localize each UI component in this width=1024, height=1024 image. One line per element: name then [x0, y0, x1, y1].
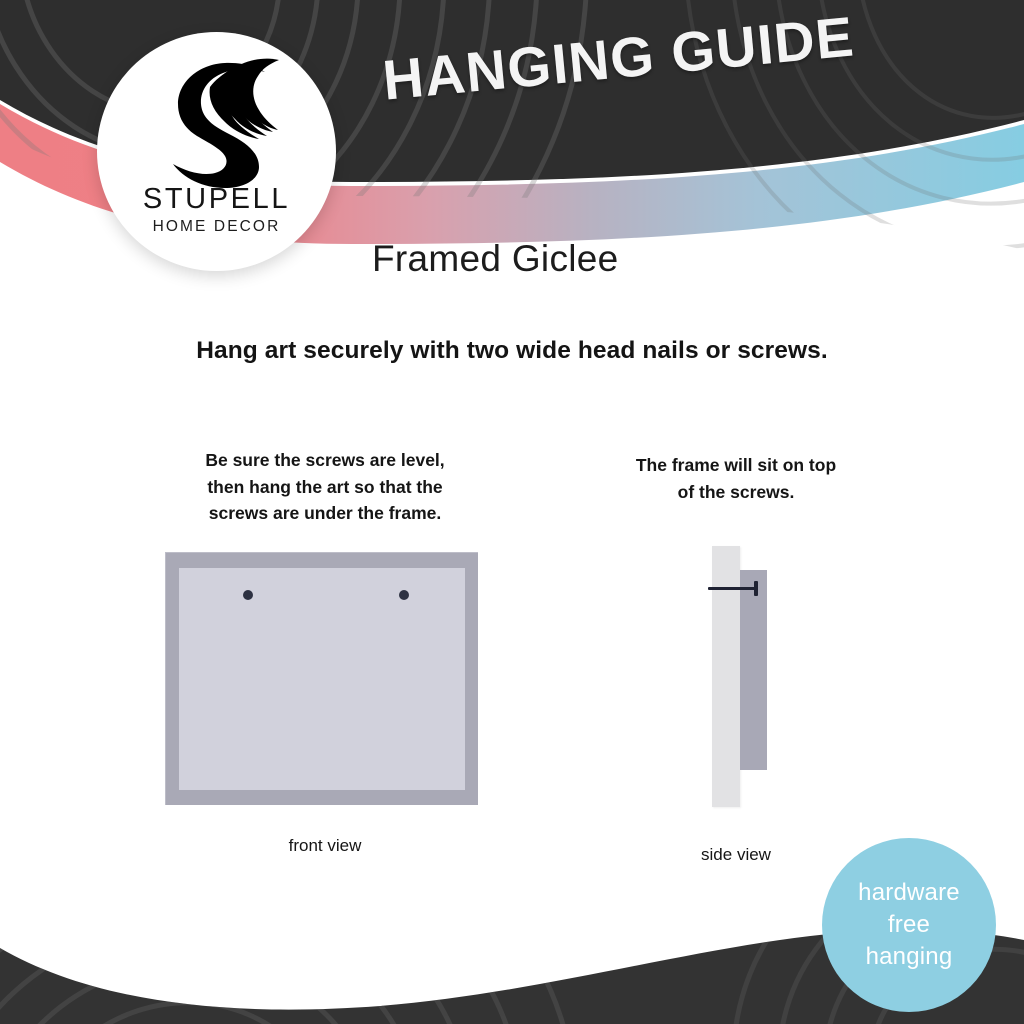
front-view-diagram [165, 552, 478, 805]
hardware-free-hanging-badge: hardware free hanging [822, 838, 996, 1012]
front-view-mat [179, 568, 465, 790]
side-view-instruction-line-2: of the screws. [600, 479, 872, 506]
hanging-guide-page: STUPELL HOME DECOR HANGING GUIDE Framed … [0, 0, 1024, 1024]
brand-logo-badge: STUPELL HOME DECOR [97, 32, 336, 271]
badge-line-1: hardware [858, 877, 960, 909]
front-view-instruction-line-2: then hang the art so that the [160, 474, 490, 501]
badge-line-3: hanging [858, 941, 960, 973]
hardware-free-hanging-text: hardware free hanging [858, 877, 960, 973]
nail-side-icon [708, 587, 758, 590]
badge-line-2: free [858, 909, 960, 941]
brand-name-primary: STUPELL [97, 184, 336, 214]
side-view-instructions: The frame will sit on top of the screws. [600, 452, 872, 505]
side-view-instruction-line-1: The frame will sit on top [600, 452, 872, 479]
brand-wordmark: STUPELL HOME DECOR [97, 184, 336, 236]
side-view-diagram [700, 540, 810, 815]
product-type-label: Framed Giclee [372, 238, 619, 280]
main-instruction-text: Hang art securely with two wide head nai… [0, 337, 1024, 365]
nail-head-icon [754, 581, 758, 596]
brand-name-secondary: HOME DECOR [97, 218, 336, 236]
frame-profile-bar [740, 570, 767, 770]
stupell-swoosh-logo-icon [155, 52, 279, 188]
front-view-label: front view [160, 836, 490, 856]
wall-surface [712, 546, 740, 807]
side-view-label: side view [620, 845, 852, 865]
front-view-instructions: Be sure the screws are level, then hang … [160, 447, 490, 527]
screw-dot-icon-left [243, 590, 253, 600]
front-view-instruction-line-3: screws are under the frame. [160, 500, 490, 527]
screw-dot-icon-right [399, 590, 409, 600]
front-view-instruction-line-1: Be sure the screws are level, [160, 447, 490, 474]
page-title: HANGING GUIDE [380, 3, 857, 112]
